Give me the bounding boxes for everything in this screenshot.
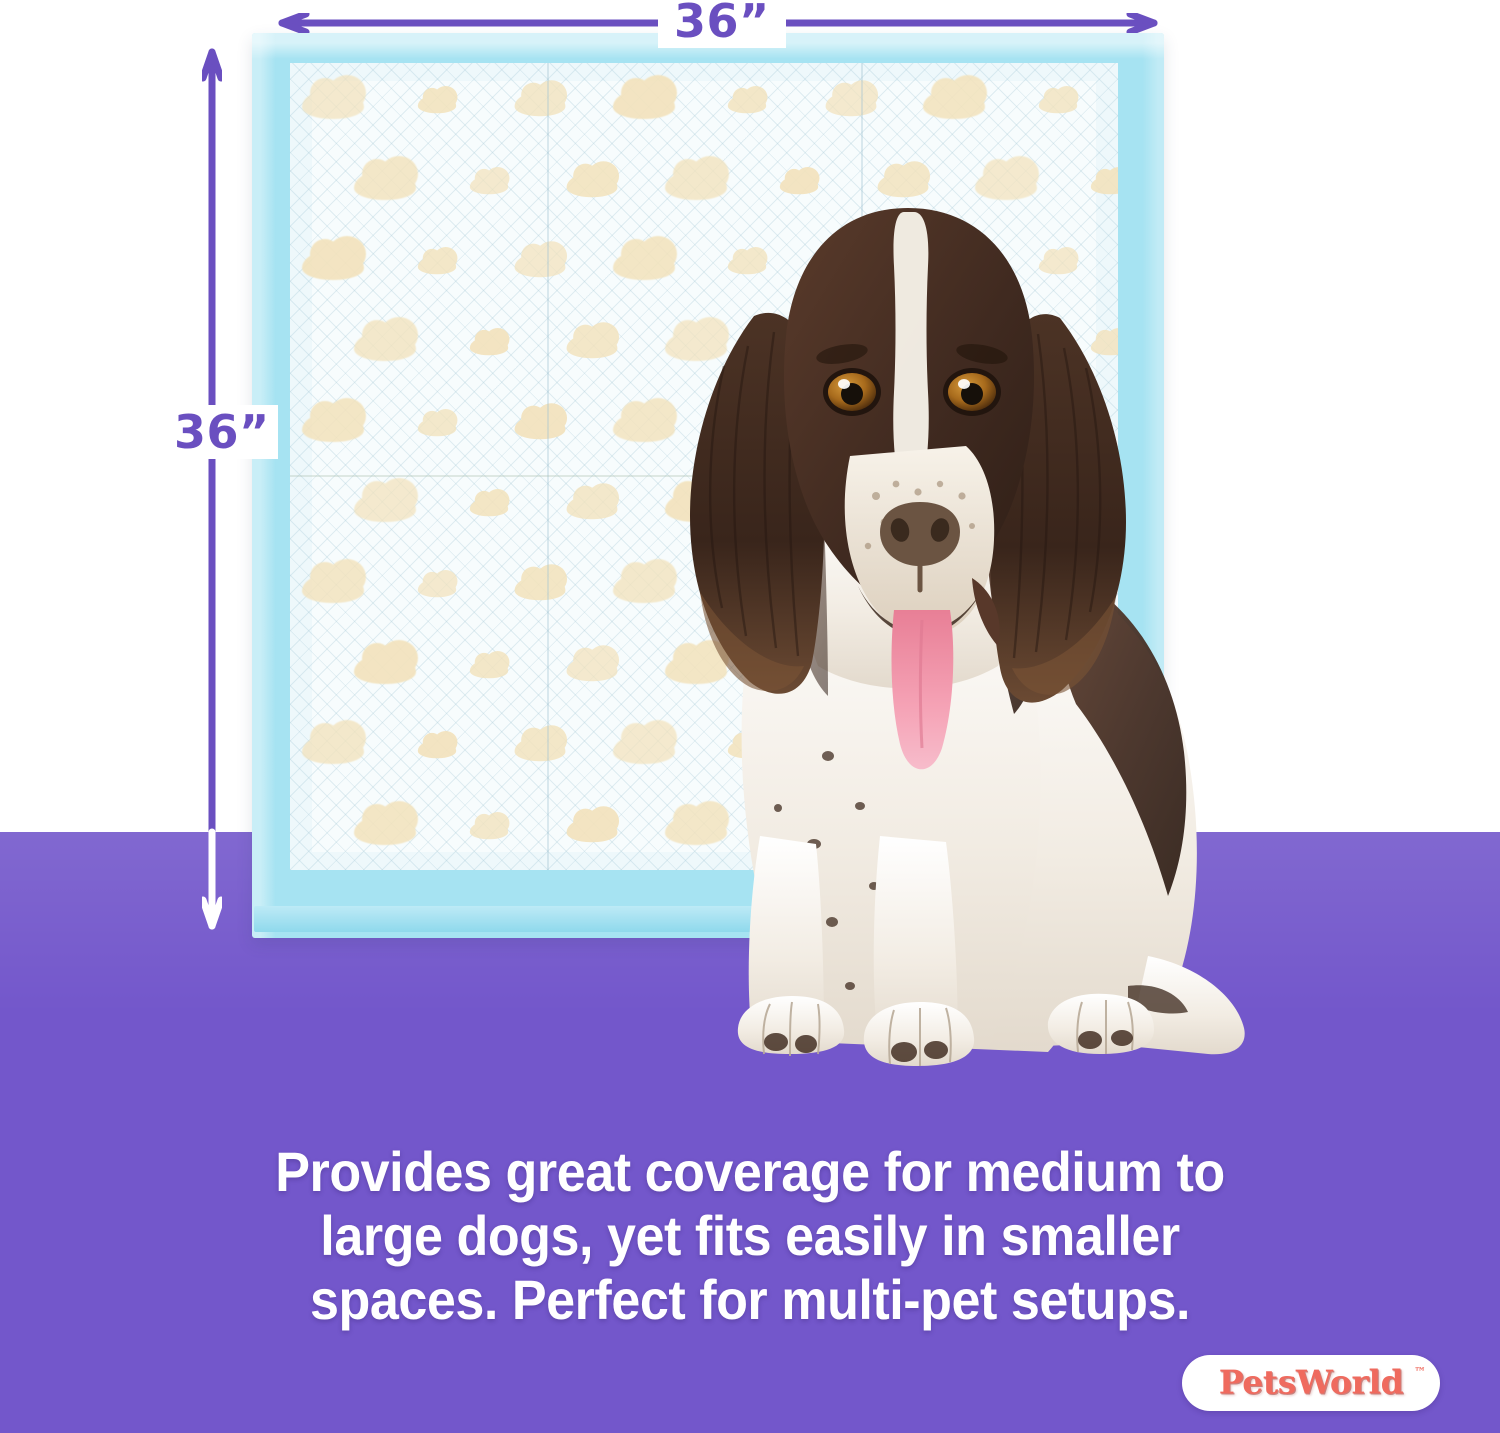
cloud-motif (567, 818, 618, 843)
cloud-motif (469, 821, 507, 840)
cloud-motif (418, 256, 456, 275)
cloud-motif (780, 175, 818, 194)
height-dimension-arrow (202, 46, 222, 932)
product-infographic: 36” 36” (0, 0, 1500, 1433)
cloud-motif (825, 92, 876, 117)
cloud-motif (302, 573, 364, 603)
cloud-motif (302, 89, 364, 119)
dog-tongue-crease (921, 620, 923, 748)
dog-paw-right (864, 1002, 974, 1066)
cloud-motif (354, 654, 416, 684)
cloud-motif (515, 576, 566, 601)
cloud-motif (469, 659, 507, 678)
cloud-motif (302, 250, 364, 280)
dog-eye-right (943, 368, 1001, 416)
cloud-motif (418, 579, 456, 598)
cloud-motif (567, 495, 618, 520)
cloud-motif (923, 89, 985, 119)
cloud-motif (418, 95, 456, 114)
cloud-motif (1039, 95, 1077, 114)
brand-logo: PetsWorld ™ (1182, 1355, 1440, 1411)
cloud-motif (418, 740, 456, 759)
dog-blaze (893, 212, 929, 488)
pad-fold-line (547, 63, 549, 870)
cloud-motif (515, 414, 566, 439)
cloud-motif (302, 734, 364, 764)
caption-line-3: spaces. Perfect for multi-pet setups. (118, 1268, 1383, 1332)
cloud-motif (354, 492, 416, 522)
width-label: 36” (658, 0, 786, 48)
trademark-symbol: ™ (1414, 1365, 1426, 1379)
caption-line-2: large dogs, yet fits easily in smaller (118, 1204, 1383, 1268)
cloud-motif (469, 337, 507, 356)
cloud-motif (515, 253, 566, 278)
cloud-motif (877, 172, 928, 197)
cloud-motif (469, 498, 507, 517)
dog-photo (628, 196, 1268, 1072)
cloud-motif (613, 89, 675, 119)
cloud-motif (515, 737, 566, 762)
cloud-motif (567, 172, 618, 197)
marketing-caption: Provides great coverage for medium to la… (53, 1140, 1448, 1332)
dog-rear-paw (1048, 994, 1154, 1054)
cloud-motif (302, 412, 364, 442)
cloud-motif (728, 95, 766, 114)
cloud-motif (469, 175, 507, 194)
cloud-motif (354, 331, 416, 361)
height-label: 36” (166, 405, 278, 459)
caption-line-1: Provides great coverage for medium to (118, 1140, 1383, 1204)
cloud-motif (354, 815, 416, 845)
cloud-motif (567, 656, 618, 681)
brand-name: PetsWorld (1182, 1363, 1440, 1402)
cloud-motif (354, 170, 416, 200)
dog-eye-left (823, 368, 881, 416)
cloud-motif (567, 334, 618, 359)
cloud-motif (515, 92, 566, 117)
cloud-motif (418, 417, 456, 436)
